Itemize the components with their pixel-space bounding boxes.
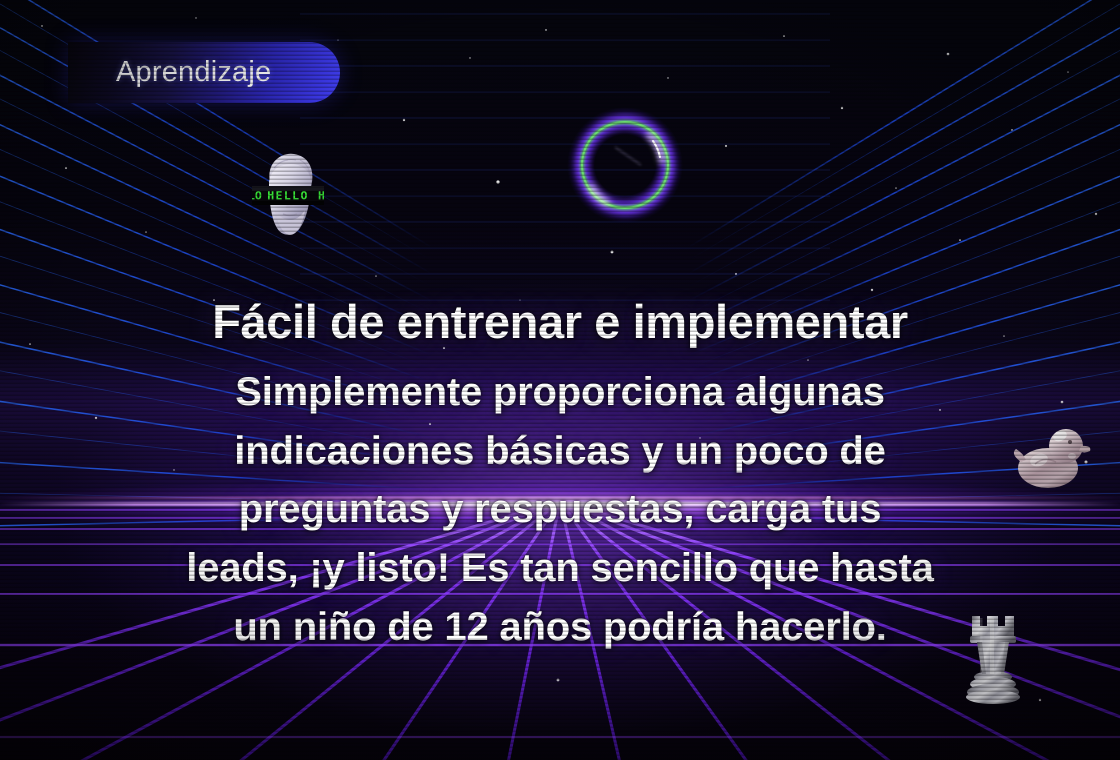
visor-text-right-partial: H [318, 189, 324, 203]
body-line: un niño de 12 años podría hacerlo. [130, 598, 990, 657]
page-title: Fácil de entrenar e implementar [0, 298, 1120, 347]
body-line: preguntas y respuestas, carga tus [130, 480, 990, 539]
body-line: Simplemente proporciona algunas [130, 363, 990, 422]
visor-text-hello: HELLO [267, 189, 309, 203]
body-paragraph: Simplemente proporciona algunas indicaci… [130, 363, 990, 657]
slide-canvas: Aprendizaje [0, 0, 1120, 760]
glowing-ring-icon [563, 103, 687, 227]
visor-text-left-partial: LO [252, 189, 262, 203]
category-badge[interactable]: Aprendizaje [68, 42, 340, 103]
visor-band: HELLO LO H [252, 186, 324, 205]
greek-statue-bust-icon: HELLO LO H [252, 148, 324, 248]
body-line: leads, ¡y listo! Es tan sencillo que has… [130, 539, 990, 598]
category-badge-label: Aprendizaje [116, 56, 271, 89]
body-line: indicaciones básicas y un poco de [130, 422, 990, 481]
slide-text-content: Fácil de entrenar e implementar Simpleme… [0, 298, 1120, 657]
